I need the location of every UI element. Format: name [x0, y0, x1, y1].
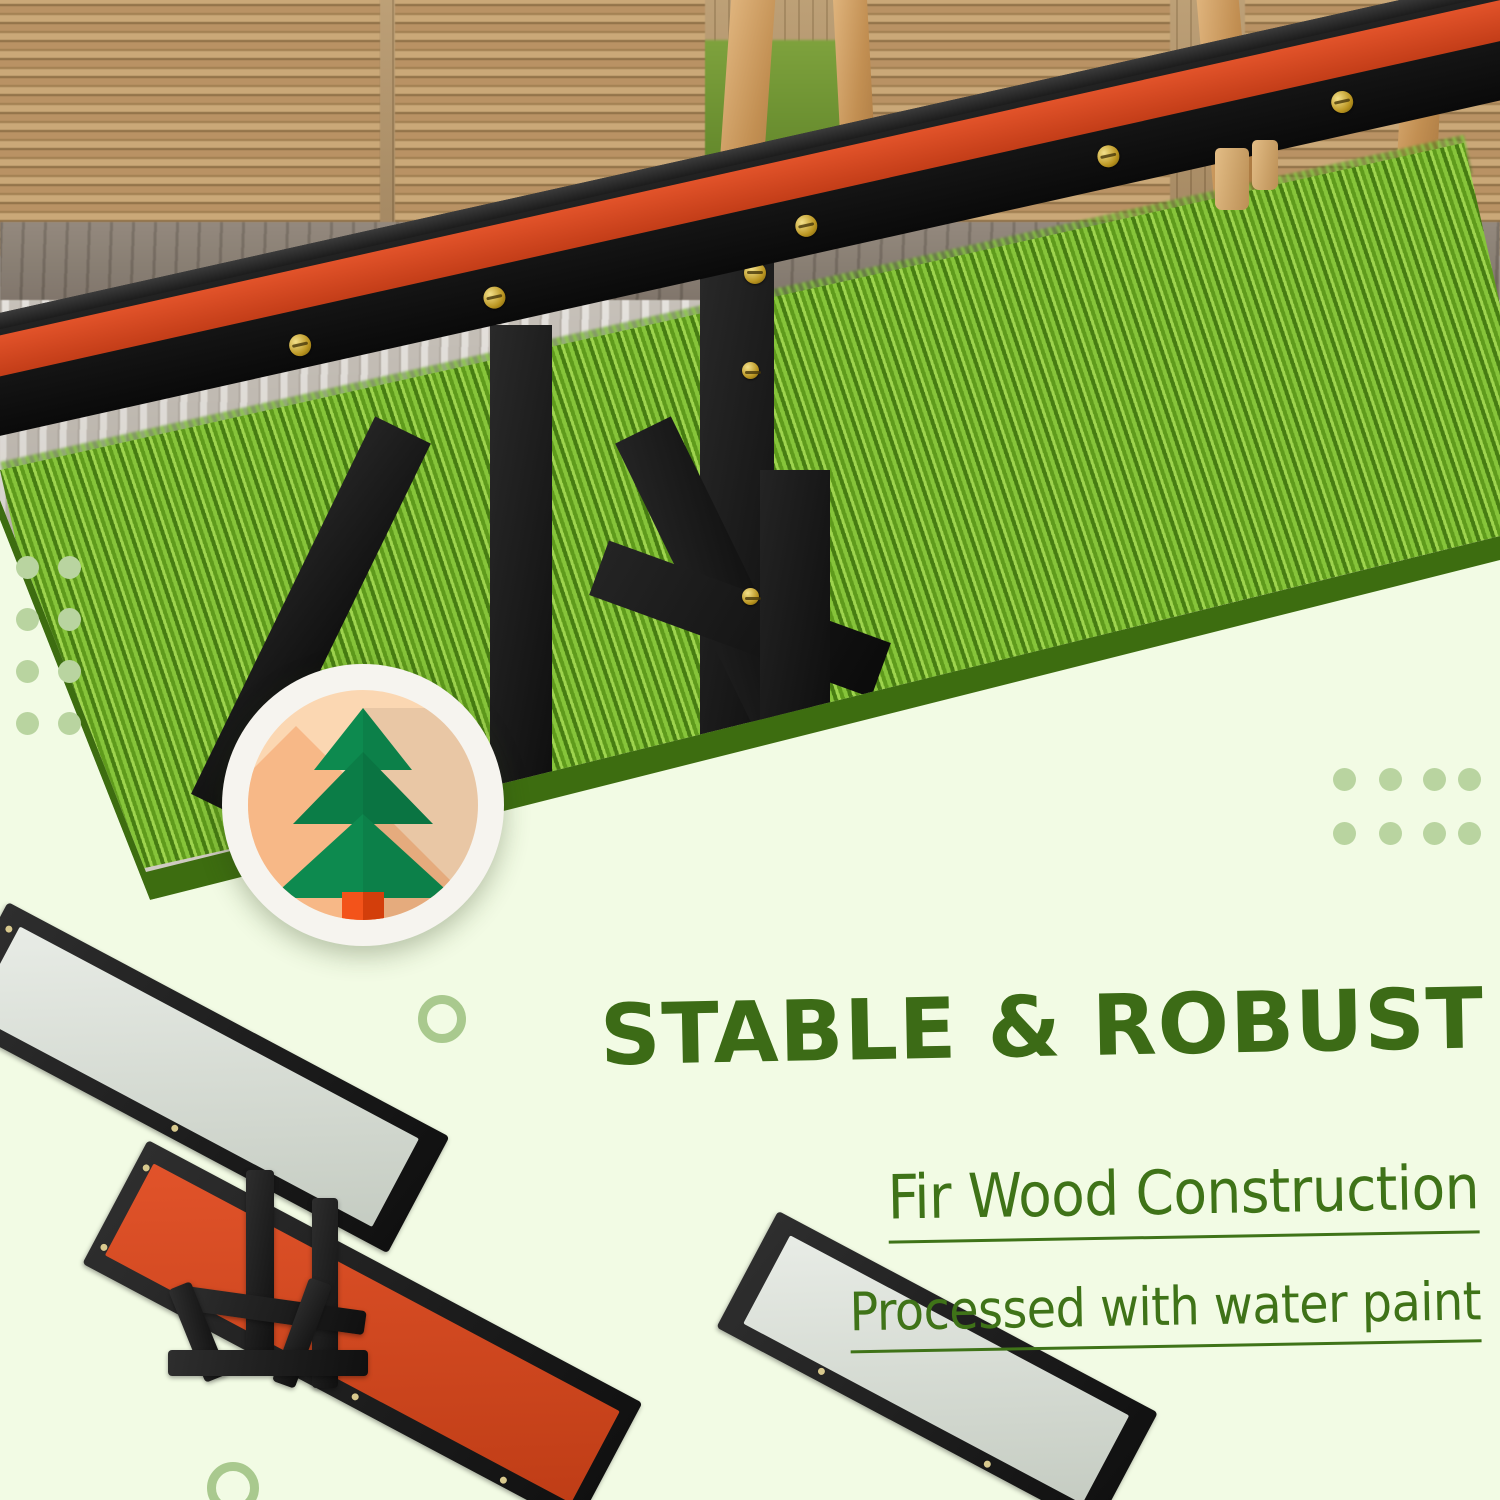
- promo-page: STABLE & ROBUST Fir Wood Construction Pr…: [0, 0, 1500, 1500]
- support-post: [760, 470, 830, 850]
- hero-photo-panel: [0, 0, 1500, 900]
- product-base-rail: [168, 1350, 368, 1376]
- feature-list: Fir Wood Construction Processed with wat…: [598, 1152, 1481, 1357]
- seesaw-foot: [1252, 140, 1278, 190]
- screw-icon: [983, 1459, 992, 1468]
- screw-icon: [817, 1367, 826, 1376]
- page-title: STABLE & ROBUST: [599, 977, 1470, 1078]
- decor-ring: [418, 995, 466, 1043]
- support-post: [490, 325, 552, 845]
- screw-icon: [742, 588, 759, 605]
- screw-icon: [4, 924, 13, 933]
- screw-icon: [499, 1475, 508, 1484]
- feature-item-finish: Processed with water paint: [849, 1271, 1482, 1353]
- screw-icon: [350, 1392, 359, 1401]
- screw-icon: [742, 362, 759, 379]
- product-support-post: [246, 1170, 274, 1360]
- screw-icon: [170, 1124, 179, 1133]
- seesaw-foot: [1215, 148, 1249, 210]
- feature-item-material: Fir Wood Construction: [887, 1152, 1480, 1243]
